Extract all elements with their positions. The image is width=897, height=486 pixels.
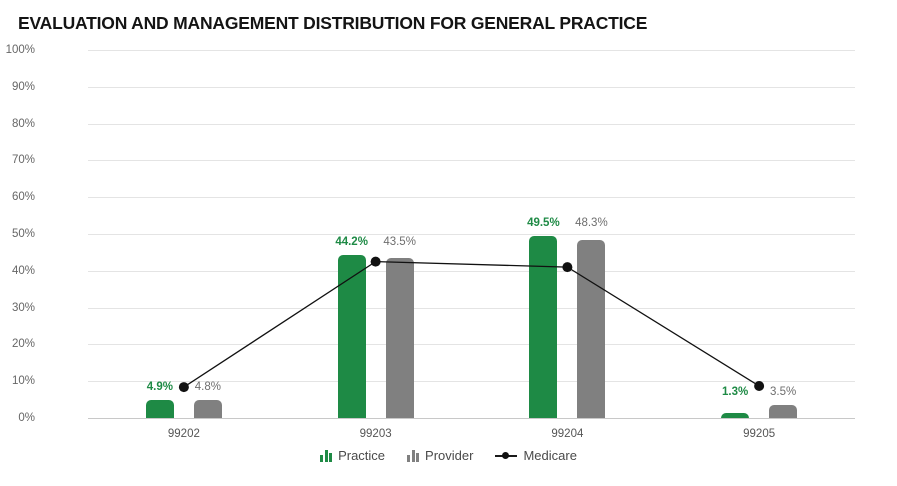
legend-label: Medicare <box>523 448 576 463</box>
data-label-provider-99205: 3.5% <box>770 386 796 398</box>
data-label-practice-99205: 1.3% <box>722 386 748 398</box>
chart-title: EVALUATION AND MANAGEMENT DISTRIBUTION F… <box>18 13 647 34</box>
data-label-practice-99203: 44.2% <box>335 236 368 248</box>
medicare-point-99204[interactable] <box>562 262 572 272</box>
legend-label: Practice <box>338 448 385 463</box>
chart-legend: PracticeProviderMedicare <box>0 448 897 463</box>
y-axis-tick-label: 0% <box>0 412 35 424</box>
y-axis-tick-label: 80% <box>0 118 35 130</box>
medicare-point-99203[interactable] <box>371 257 381 267</box>
icon-bar <box>329 453 332 462</box>
y-axis-tick-label: 10% <box>0 375 35 387</box>
icon-bar <box>416 453 419 462</box>
x-axis-tick-label-99205: 99205 <box>743 428 775 440</box>
data-label-practice-99204: 49.5% <box>527 217 560 229</box>
y-axis-tick-label: 20% <box>0 338 35 350</box>
x-axis-tick-label-99203: 99203 <box>360 428 392 440</box>
medicare-line-series <box>88 50 855 418</box>
y-axis-tick-label: 70% <box>0 154 35 166</box>
bar-chart-icon-gray <box>407 450 419 462</box>
y-axis-tick-label: 50% <box>0 228 35 240</box>
data-label-provider-99203: 43.5% <box>383 236 416 248</box>
legend-item-provider[interactable]: Provider <box>407 448 473 463</box>
data-label-practice-99202: 4.9% <box>147 381 173 393</box>
icon-bar <box>320 455 323 462</box>
medicare-line <box>184 262 759 387</box>
plot-area: 0%10%20%30%40%50%60%70%80%90%100% 4.9%4.… <box>88 50 855 418</box>
legend-item-practice[interactable]: Practice <box>320 448 385 463</box>
line-dot-icon <box>495 450 517 462</box>
medicare-point-99205[interactable] <box>754 381 764 391</box>
data-label-provider-99202: 4.8% <box>195 381 221 393</box>
bar-chart-icon-green <box>320 450 332 462</box>
data-label-provider-99204: 48.3% <box>575 217 608 229</box>
chart-container: EVALUATION AND MANAGEMENT DISTRIBUTION F… <box>0 0 897 486</box>
dot-marker <box>502 452 509 459</box>
x-axis-tick-label-99202: 99202 <box>168 428 200 440</box>
medicare-point-99202[interactable] <box>179 382 189 392</box>
y-axis-tick-label: 40% <box>0 265 35 277</box>
icon-bar <box>325 450 328 462</box>
icon-bar <box>407 455 410 462</box>
y-axis-tick-label: 30% <box>0 302 35 314</box>
y-axis-tick-label: 100% <box>0 44 35 56</box>
y-axis-tick-label: 60% <box>0 191 35 203</box>
legend-label: Provider <box>425 448 473 463</box>
gridline <box>88 418 855 419</box>
icon-bar <box>412 450 415 462</box>
legend-item-medicare[interactable]: Medicare <box>495 448 576 463</box>
x-axis-tick-label-99204: 99204 <box>551 428 583 440</box>
y-axis-tick-label: 90% <box>0 81 35 93</box>
